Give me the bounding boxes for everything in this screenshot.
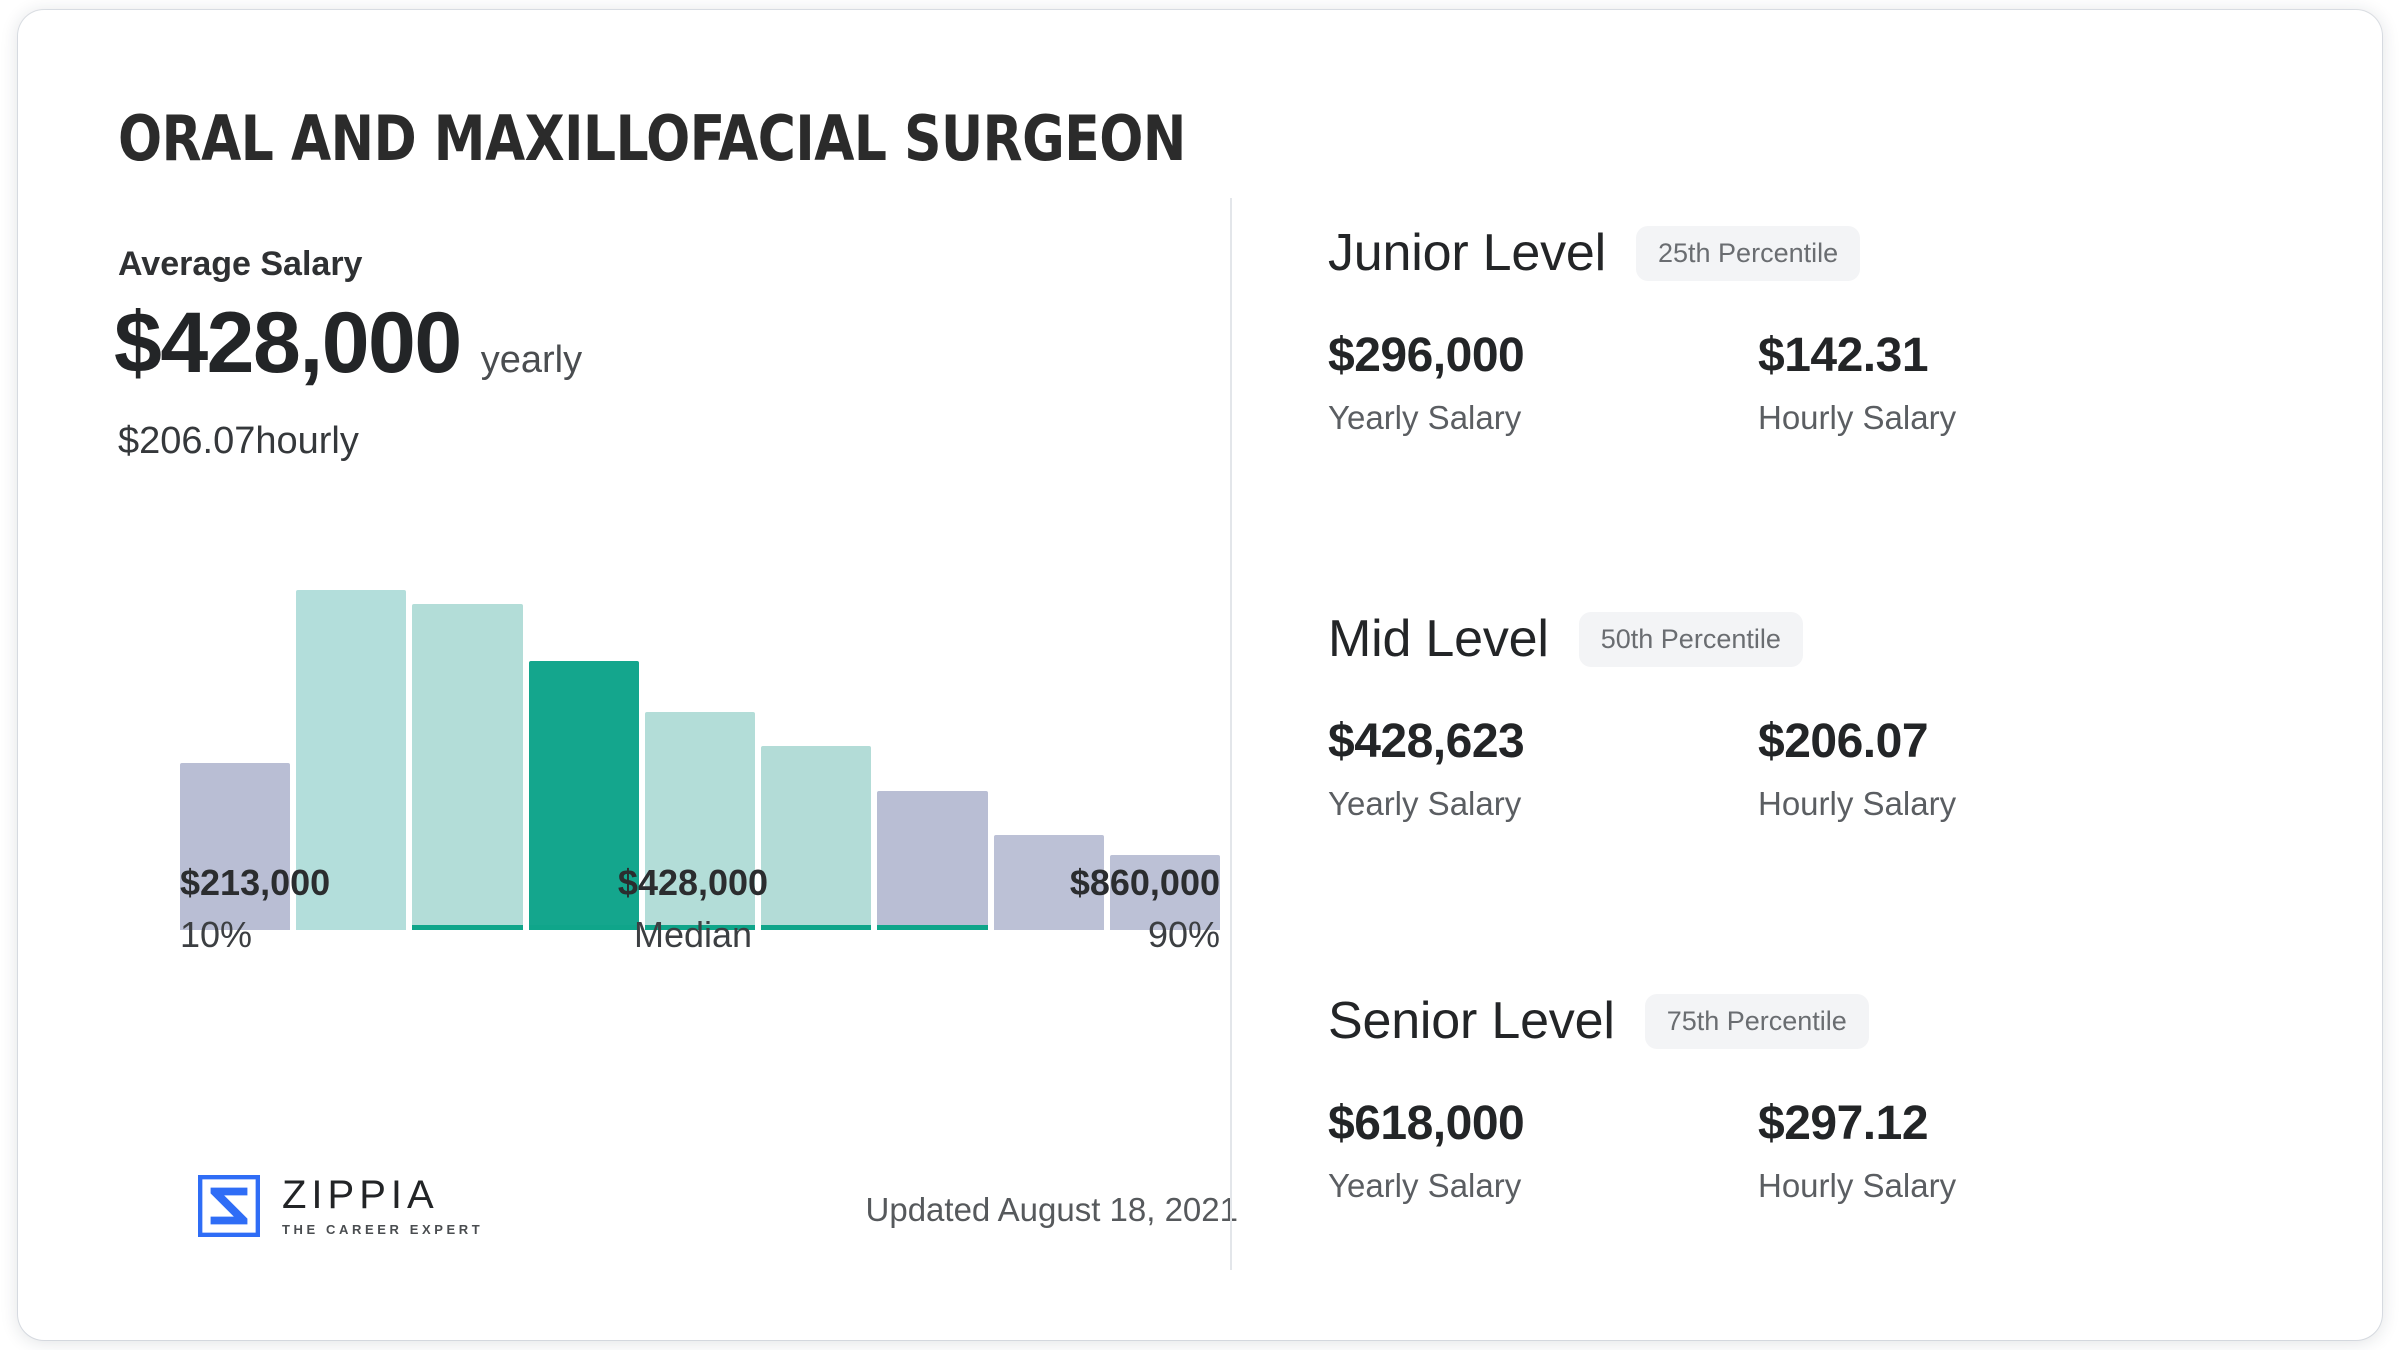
- status-badge-junior: 25th Percentile: [1636, 226, 1860, 281]
- card-footer: ZIPPIA THE CAREER EXPERT Updated August …: [198, 1175, 1238, 1265]
- left-panel: ORAL AND MAXILLOFACIAL SURGEON Average S…: [98, 10, 1228, 1340]
- average-salary-label: Average Salary: [118, 245, 362, 284]
- stat-yearly-value-mid: $428,623: [1328, 714, 1758, 769]
- level-name-senior: Senior Level: [1328, 991, 1615, 1051]
- status-badge-senior: 75th Percentile: [1645, 994, 1869, 1049]
- stat-yearly-value-senior: $618,000: [1328, 1096, 1758, 1151]
- page-title: ORAL AND MAXILLOFACIAL SURGEON: [118, 102, 1186, 175]
- average-hourly-row: $206.07 hourly: [118, 420, 359, 463]
- stat-hourly-senior: $297.12 Hourly Salary: [1758, 1096, 2188, 1205]
- stat-hourly-label-senior: Hourly Salary: [1758, 1167, 2188, 1205]
- stat-hourly-value-mid: $206.07: [1758, 714, 2188, 769]
- stat-hourly-value-senior: $297.12: [1758, 1096, 2188, 1151]
- stat-yearly-label-junior: Yearly Salary: [1328, 399, 1758, 437]
- average-salary-row: $428,000 yearly: [114, 300, 582, 386]
- axis-annotation-low: $213,000 10%: [180, 862, 330, 956]
- salary-distribution-chart: $213,000 10% $428,000 Median $860,000 90…: [180, 510, 1220, 930]
- level-stats-senior: $618,000 Yearly Salary $297.12 Hourly Sa…: [1328, 1096, 2348, 1205]
- stat-hourly-value-junior: $142.31: [1758, 328, 2188, 383]
- salary-infographic: ORAL AND MAXILLOFACIAL SURGEON Average S…: [0, 0, 2400, 1350]
- right-panel: Junior Level 25th Percentile $296,000 Ye…: [1328, 10, 2348, 1340]
- chart-axis-labels: $213,000 10% $428,000 Median $860,000 90…: [180, 862, 1220, 982]
- stat-hourly-junior: $142.31 Hourly Salary: [1758, 328, 2188, 437]
- level-header-senior: Senior Level 75th Percentile: [1328, 990, 2348, 1052]
- status-badge-mid: 50th Percentile: [1579, 612, 1803, 667]
- stat-yearly-label-senior: Yearly Salary: [1328, 1167, 1758, 1205]
- stat-yearly-label-mid: Yearly Salary: [1328, 785, 1758, 823]
- level-header-junior: Junior Level 25th Percentile: [1328, 222, 2348, 284]
- axis-annotation-median-value: $428,000: [578, 862, 808, 904]
- axis-annotation-low-value: $213,000: [180, 862, 330, 904]
- average-hourly-period: hourly: [255, 420, 359, 463]
- axis-annotation-median-sub: Median: [578, 914, 808, 956]
- axis-annotation-high-sub: 90%: [1070, 914, 1220, 956]
- level-stats-junior: $296,000 Yearly Salary $142.31 Hourly Sa…: [1328, 328, 2348, 437]
- stat-yearly-mid: $428,623 Yearly Salary: [1328, 714, 1758, 823]
- average-hourly-amount: $206.07: [118, 420, 255, 463]
- column-divider: [1230, 198, 1232, 1270]
- zippia-logo-text: ZIPPIA THE CAREER EXPERT: [282, 1175, 483, 1237]
- stat-hourly-label-junior: Hourly Salary: [1758, 399, 2188, 437]
- level-name-junior: Junior Level: [1328, 223, 1606, 283]
- zippia-logo[interactable]: ZIPPIA THE CAREER EXPERT: [198, 1175, 483, 1237]
- axis-annotation-median: $428,000 Median: [578, 862, 808, 956]
- stat-hourly-mid: $206.07 Hourly Salary: [1758, 714, 2188, 823]
- axis-annotation-low-sub: 10%: [180, 914, 330, 956]
- salary-card: ORAL AND MAXILLOFACIAL SURGEON Average S…: [18, 10, 2382, 1340]
- axis-annotation-high-value: $860,000: [1070, 862, 1220, 904]
- average-salary-amount: $428,000: [114, 300, 461, 386]
- stat-yearly-junior: $296,000 Yearly Salary: [1328, 328, 1758, 437]
- level-header-mid: Mid Level 50th Percentile: [1328, 608, 2348, 670]
- stat-yearly-value-junior: $296,000: [1328, 328, 1758, 383]
- average-salary-period: yearly: [481, 339, 582, 382]
- level-name-mid: Mid Level: [1328, 609, 1549, 669]
- level-block-mid: Mid Level 50th Percentile $428,623 Yearl…: [1328, 608, 2348, 823]
- stat-yearly-senior: $618,000 Yearly Salary: [1328, 1096, 1758, 1205]
- axis-annotation-high: $860,000 90%: [1070, 862, 1220, 956]
- zippia-logo-icon: [198, 1175, 260, 1237]
- stat-hourly-label-mid: Hourly Salary: [1758, 785, 2188, 823]
- zippia-tagline: THE CAREER EXPERT: [282, 1222, 483, 1237]
- level-block-senior: Senior Level 75th Percentile $618,000 Ye…: [1328, 990, 2348, 1205]
- updated-date: Updated August 18, 2021: [866, 1191, 1238, 1229]
- zippia-wordmark: ZIPPIA: [282, 1175, 483, 1215]
- level-stats-mid: $428,623 Yearly Salary $206.07 Hourly Sa…: [1328, 714, 2348, 823]
- level-block-junior: Junior Level 25th Percentile $296,000 Ye…: [1328, 222, 2348, 437]
